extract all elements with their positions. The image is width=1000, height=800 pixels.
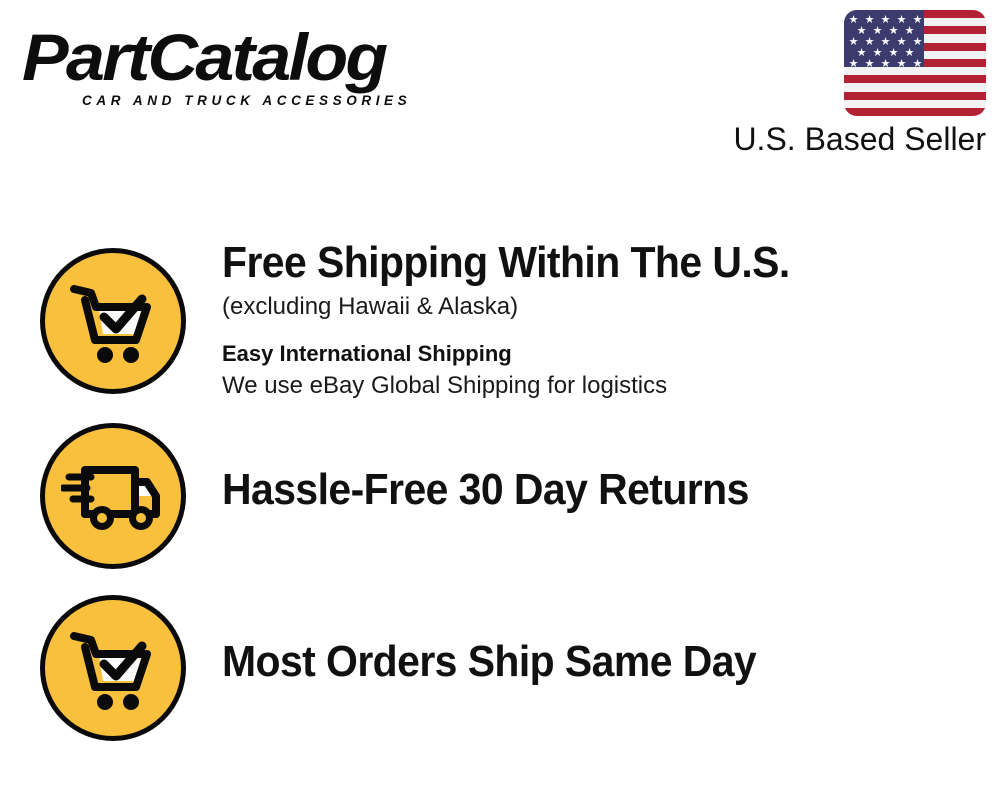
feature-row-free-shipping: Free Shipping Within The U.S. (excluding… [40, 238, 980, 402]
us-flag-icon: ★ ★ ★ ★ ★ ★ ★ ★ ★ ★ ★ ★ ★ ★ ★ ★ ★ ★ ★ ★ [844, 10, 986, 116]
banner-header: PartCatalog CAR AND TRUCK ACCESSORIES ★ [0, 0, 1000, 170]
logo-wordmark: PartCatalog [22, 22, 520, 92]
flag-stripe [844, 83, 986, 91]
feature-secondary-title: Easy International Shipping [222, 339, 980, 369]
feature-text-free-shipping: Free Shipping Within The U.S. (excluding… [186, 238, 980, 402]
delivery-truck-icon [40, 423, 186, 569]
feature-subtitle: (excluding Hawaii & Alaska) [222, 291, 980, 323]
feature-row-returns: Hassle-Free 30 Day Returns [40, 413, 980, 569]
cart-check-icon [40, 595, 186, 741]
flag-stripe [844, 75, 986, 83]
us-based-seller-badge: ★ ★ ★ ★ ★ ★ ★ ★ ★ ★ ★ ★ ★ ★ ★ ★ ★ ★ ★ ★ [706, 10, 986, 158]
us-based-seller-label: U.S. Based Seller [706, 120, 986, 158]
logo-tagline: CAR AND TRUCK ACCESSORIES [82, 93, 492, 109]
flag-star: ★ [912, 59, 923, 70]
promo-banner: PartCatalog CAR AND TRUCK ACCESSORIES ★ [0, 0, 1000, 800]
feature-title: Most Orders Ship Same Day [222, 637, 927, 687]
feature-title: Free Shipping Within The U.S. [222, 238, 927, 288]
flag-stripe [844, 108, 986, 116]
flag-star: ★ [880, 59, 891, 70]
flag-stripe [844, 92, 986, 100]
flag-star: ★ [896, 59, 907, 70]
flag-star: ★ [864, 59, 875, 70]
cart-check-icon [40, 248, 186, 394]
feature-secondary-note: We use eBay Global Shipping for logistic… [222, 370, 980, 402]
feature-text-same-day-ship: Most Orders Ship Same Day [186, 585, 980, 687]
feature-title: Hassle-Free 30 Day Returns [222, 465, 927, 515]
brand-logo[interactable]: PartCatalog CAR AND TRUCK ACCESSORIES [22, 22, 492, 109]
flag-star: ★ [848, 59, 859, 70]
flag-stripe [844, 100, 986, 108]
feature-text-returns: Hassle-Free 30 Day Returns [186, 413, 980, 515]
feature-row-same-day-ship: Most Orders Ship Same Day [40, 585, 980, 741]
